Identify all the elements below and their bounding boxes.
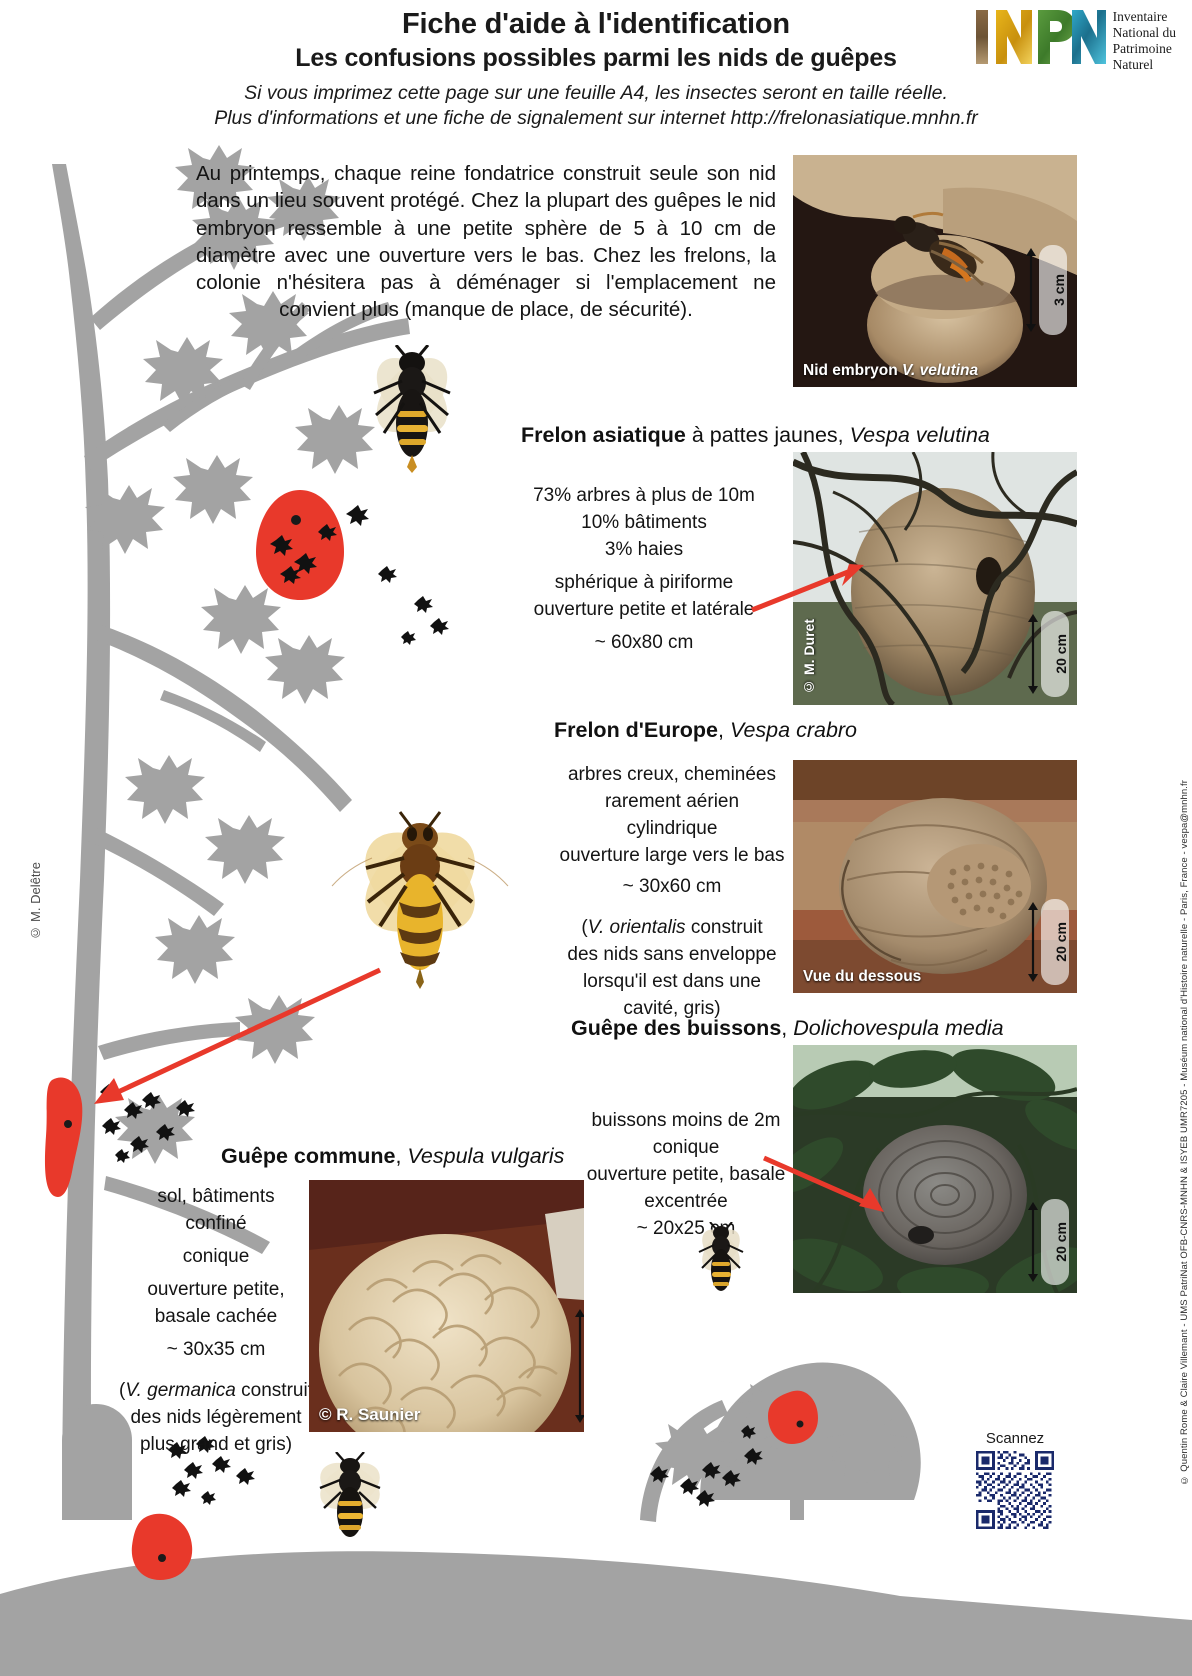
- desc-line: conique: [562, 1135, 810, 1162]
- page-title: Fiche d'aide à l'identification: [0, 8, 1192, 41]
- species-name-rest: à pattes jaunes,: [686, 423, 850, 447]
- caption-text: Nid embryon: [803, 362, 902, 379]
- note-species: V. orientalis: [588, 917, 686, 938]
- qr-code[interactable]: [976, 1451, 1054, 1529]
- desc-line: ~ 20x25 cm: [562, 1216, 810, 1243]
- desc-note-vulgaris: (V. germanica construit des nids légèrem…: [118, 1378, 314, 1459]
- species-name-italic: Vespa velutina: [850, 423, 990, 447]
- scalebar-embryon: 3 cm: [1039, 245, 1067, 335]
- desc-line: 3% haies: [508, 537, 780, 564]
- desc-line: rarement aérien: [534, 789, 810, 816]
- desc-line: arbres creux, cheminées: [534, 762, 810, 789]
- scalebar-label: 3 cm: [1051, 274, 1067, 306]
- species-name-bold: Guêpe des buissons: [571, 1016, 781, 1040]
- page-subtitle: Les confusions possibles parmi les nids …: [0, 44, 1192, 73]
- species-name-italic: Dolichovespula media: [793, 1016, 1003, 1040]
- photo-caption-embryon: Nid embryon V. velutina: [803, 362, 978, 380]
- note-species: V. germanica: [125, 1380, 236, 1401]
- desc-note-crabro: (V. orientalis construit des nids sans e…: [534, 915, 810, 1023]
- intro-paragraph: Au printemps, chaque reine fondatrice co…: [196, 160, 776, 324]
- species-name-rest: ,: [781, 1016, 793, 1040]
- note-line-first: (V. germanica construit: [118, 1378, 314, 1405]
- photo-nid-vulgaris-image: [309, 1180, 584, 1432]
- photo-nid-crabro: Vue du dessous 20 cm: [793, 760, 1077, 993]
- note-rest: construit: [236, 1380, 313, 1401]
- desc-line: basale cachée: [118, 1304, 314, 1331]
- desc-line: sol, bâtiments: [118, 1184, 314, 1211]
- photo-credit-vulgaris: © R. Saunier: [319, 1405, 420, 1425]
- desc-line: ~ 30x60 cm: [534, 874, 810, 901]
- header-note-line1: Si vous imprimez cette page sur une feui…: [0, 81, 1192, 106]
- species-heading-velutina: Frelon asiatique à pattes jaunes, Vespa …: [521, 423, 990, 448]
- scalebar-label: 20 cm: [1053, 1222, 1069, 1262]
- species-name-bold: Frelon d'Europe: [554, 718, 718, 742]
- desc-line: ~ 60x80 cm: [508, 630, 780, 657]
- desc-line: ~ 30x35 cm: [118, 1337, 314, 1364]
- note-rest: construit: [686, 917, 763, 938]
- species-name-bold: Frelon asiatique: [521, 423, 686, 447]
- species-heading-media: Guêpe des buissons, Dolichovespula media: [571, 1016, 1004, 1041]
- photo-nid-embryon: Nid embryon V. velutina 3 cm: [793, 155, 1077, 387]
- note-line-first: (V. orientalis construit: [534, 915, 810, 942]
- note-line: des nids légèrement: [118, 1405, 314, 1432]
- species-name-italic: Vespa crabro: [730, 718, 857, 742]
- desc-line: conique: [118, 1244, 314, 1271]
- scannez-label: Scannez: [976, 1430, 1054, 1447]
- photo-caption-crabro: Vue du dessous: [803, 968, 921, 986]
- scalebar-arrow-icon: [1027, 1202, 1039, 1282]
- desc-line: ouverture petite et latérale: [508, 597, 780, 624]
- desc-line: ouverture petite,: [118, 1277, 314, 1304]
- desc-line: excentrée: [562, 1189, 810, 1216]
- species-heading-vulgaris: Guêpe commune, Vespula vulgaris: [221, 1144, 564, 1169]
- desc-line: cylindrique: [534, 816, 810, 843]
- species-name-rest: ,: [718, 718, 730, 742]
- desc-line: confiné: [118, 1211, 314, 1238]
- desc-line: 10% bâtiments: [508, 510, 780, 537]
- species-desc-vulgaris: sol, bâtiments confiné conique ouverture…: [118, 1184, 314, 1459]
- desc-line: 73% arbres à plus de 10m: [508, 483, 780, 510]
- scalebar-arrow-icon: [1027, 614, 1039, 694]
- scalebar-crabro: 20 cm: [1041, 899, 1069, 985]
- species-desc-velutina: 73% arbres à plus de 10m 10% bâtiments 3…: [508, 483, 780, 657]
- photo-nid-velutina: © M. Duret 20 cm: [793, 452, 1077, 705]
- scalebar-velutina: 20 cm: [1041, 611, 1069, 697]
- insect-vespa-velutina: [322, 345, 502, 475]
- caption-species: V. velutina: [902, 362, 978, 379]
- species-desc-crabro: arbres creux, cheminées rarement aérien …: [534, 762, 810, 1023]
- header-note-line2: Plus d'informations et une fiche de sign…: [0, 106, 1192, 131]
- scalebar-media: 20 cm: [1041, 1199, 1069, 1285]
- species-heading-crabro: Frelon d'Europe, Vespa crabro: [554, 718, 857, 743]
- desc-line: sphérique à piriforme: [508, 570, 780, 597]
- photo-nid-vulgaris: © R. Saunier 20 cm: [309, 1180, 584, 1432]
- species-name-rest: ,: [395, 1144, 407, 1168]
- scannez-block: Scannez: [976, 1430, 1054, 1534]
- page-header: Fiche d'aide à l'identification Les conf…: [0, 8, 1192, 132]
- tree-illustration-credit: © M. Delêtre: [28, 862, 43, 941]
- note-line: plus grand et gris): [118, 1432, 314, 1459]
- scalebar-arrow-icon: [1025, 248, 1037, 332]
- desc-line: ouverture petite, basale: [562, 1162, 810, 1189]
- scalebar-label: 20 cm: [1053, 922, 1069, 962]
- photo-nid-media: 20 cm: [793, 1045, 1077, 1293]
- insect-vespula-vulgaris: [294, 1452, 406, 1548]
- desc-line: ouverture large vers le bas: [534, 843, 810, 870]
- species-name-bold: Guêpe commune: [221, 1144, 395, 1168]
- scalebar-arrow-icon: [1027, 902, 1039, 982]
- species-desc-media: buissons moins de 2m conique ouverture p…: [562, 1108, 810, 1243]
- desc-line: buissons moins de 2m: [562, 1108, 810, 1135]
- insect-dolichovespula-media: [690, 1222, 752, 1304]
- footer-side-credit: © Quentin Rome & Claire Villemant - UMS …: [1179, 780, 1190, 1486]
- note-line: lorsqu'il est dans une: [534, 969, 810, 996]
- note-line: des nids sans enveloppe: [534, 942, 810, 969]
- species-name-italic: Vespula vulgaris: [407, 1144, 564, 1168]
- scalebar-arrow-icon: [574, 1309, 584, 1423]
- scalebar-label: 20 cm: [1053, 634, 1069, 674]
- photo-credit-velutina: © M. Duret: [801, 619, 817, 695]
- insect-vespa-crabro: [300, 810, 540, 1000]
